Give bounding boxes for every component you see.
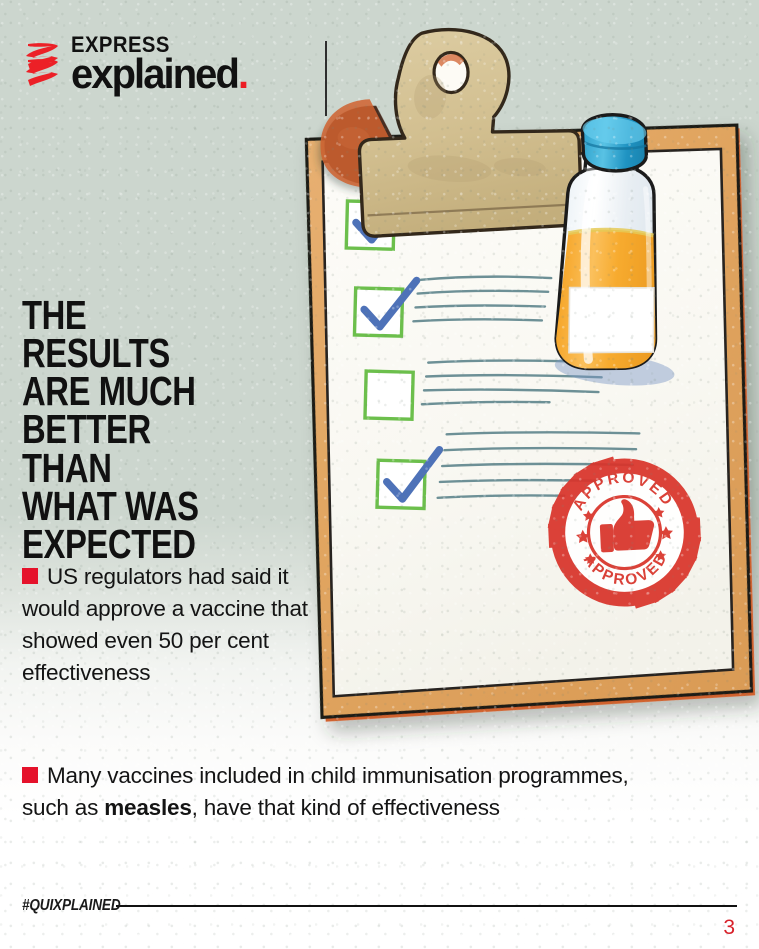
bullet-1-text: US regulators had said it would approve …: [22, 564, 308, 685]
express-flame-logo-icon: [22, 38, 62, 94]
red-square-bullet-icon: [22, 568, 38, 584]
footer-divider: [116, 905, 737, 907]
red-square-bullet-icon: [22, 767, 38, 783]
bullet-2-emphasis: measles: [104, 795, 191, 820]
brand-dot: .: [238, 50, 247, 97]
brand-name-bottom: explained.: [71, 53, 247, 95]
bullet-item-2: Many vaccines included in child immunisa…: [22, 760, 642, 824]
masthead-divider: [325, 41, 327, 116]
footer: #QUIXPLAINED: [22, 897, 737, 915]
infographic-canvas: APPROVED APPROVED: [0, 0, 759, 949]
hashtag-label: #QUIXPLAINED: [22, 897, 120, 915]
bullet-item-1: US regulators had said it would approve …: [22, 561, 352, 689]
page-title: THE RESULTS ARE MUCH BETTER THAN WHAT WA…: [22, 296, 222, 563]
brand-wordmark: EXPRESS explained.: [71, 34, 256, 95]
masthead: EXPRESS explained.: [22, 34, 256, 95]
page-number: 3: [723, 916, 735, 940]
bullet-2-text-after: , have that kind of effectiveness: [192, 795, 500, 820]
